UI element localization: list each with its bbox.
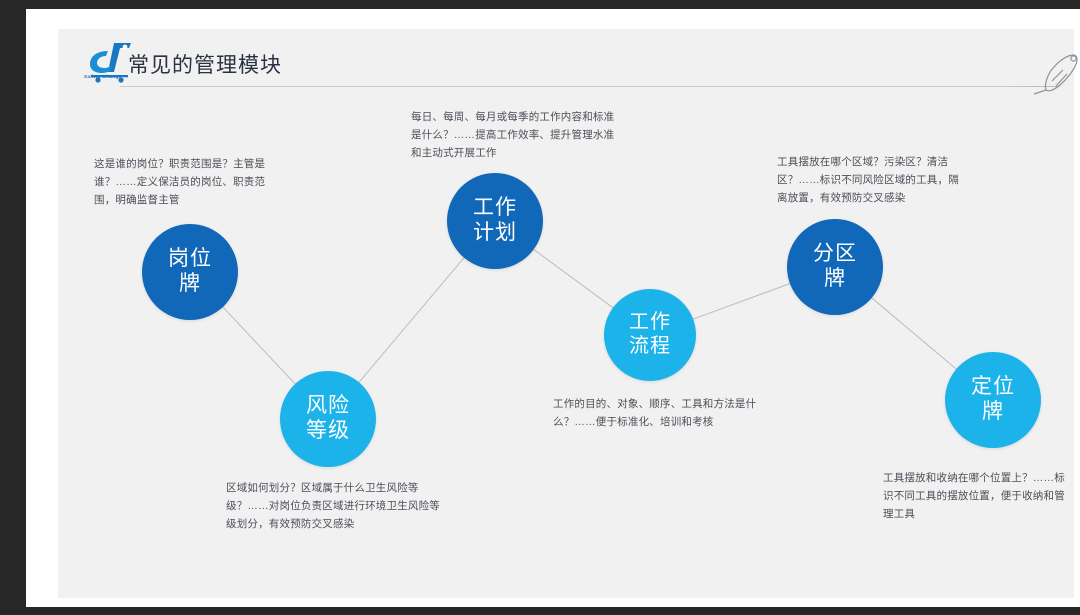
- node-label-line2: 流程: [629, 335, 671, 359]
- slide-canvas: Sailwa Change 常见的管理模块 岗位牌风险等级工作计划工作流程: [58, 29, 1074, 598]
- node-label-line1: 分区: [813, 242, 857, 267]
- node-label-line2: 牌: [813, 267, 857, 292]
- connector-work-plan-to-work-flow: [532, 248, 614, 309]
- note-location-card: 工具摆放和收纳在哪个位置上？……标识不同工具的摆放位置，便于收纳和管理工具: [883, 469, 1073, 523]
- node-zone-card[interactable]: 分区牌: [787, 219, 883, 315]
- node-location-card[interactable]: 定位牌: [945, 352, 1041, 448]
- node-label-line1: 风险: [306, 394, 350, 419]
- note-work-plan: 每日、每周、每月或每季的工作内容和标准是什么？……提高工作效率、提升管理水准和主…: [411, 108, 623, 162]
- document-page: Sailwa Change 常见的管理模块 岗位牌风险等级工作计划工作流程: [26, 9, 1080, 607]
- connector-work-flow-to-zone-card: [691, 283, 792, 320]
- connector-post-card-to-risk-level: [221, 306, 296, 386]
- note-work-flow: 工作的目的、对象、顺序、工具和方法是什么？……便于标准化、培训和考核: [553, 395, 768, 431]
- node-label-line1: 定位: [971, 375, 1015, 400]
- node-label-line2: 等级: [306, 419, 350, 444]
- node-risk-level[interactable]: 风险等级: [280, 371, 376, 467]
- node-label-line1: 工作: [473, 196, 517, 221]
- diagram-canvas: 岗位牌风险等级工作计划工作流程分区牌定位牌 这是谁的岗位？职责范围是？主管是谁？…: [58, 29, 1074, 598]
- node-label-line2: 牌: [971, 400, 1015, 425]
- node-work-plan[interactable]: 工作计划: [447, 173, 543, 269]
- note-post-card: 这是谁的岗位？职责范围是？主管是谁？……定义保洁员的岗位、职责范围，明确监督主管: [94, 155, 284, 209]
- connector-risk-level-to-work-plan: [358, 256, 466, 384]
- note-zone-card: 工具摆放在哪个区域？污染区？清洁区？……标识不同风险区域的工具，隔离放置，有效预…: [777, 153, 959, 207]
- node-post-card[interactable]: 岗位牌: [142, 224, 238, 320]
- node-label-line2: 牌: [168, 272, 212, 297]
- node-label-line2: 计划: [473, 221, 517, 246]
- node-work-flow[interactable]: 工作流程: [604, 289, 696, 381]
- note-risk-level: 区域如何划分？区域属于什么卫生风险等级？……对岗位负责区域进行环境卫生风险等级划…: [226, 479, 444, 533]
- node-label-line1: 岗位: [168, 247, 212, 272]
- connector-zone-card-to-location-card: [870, 297, 958, 371]
- screen-background: Sailwa Change 常见的管理模块 岗位牌风险等级工作计划工作流程: [0, 0, 1080, 615]
- node-label-line1: 工作: [629, 311, 671, 335]
